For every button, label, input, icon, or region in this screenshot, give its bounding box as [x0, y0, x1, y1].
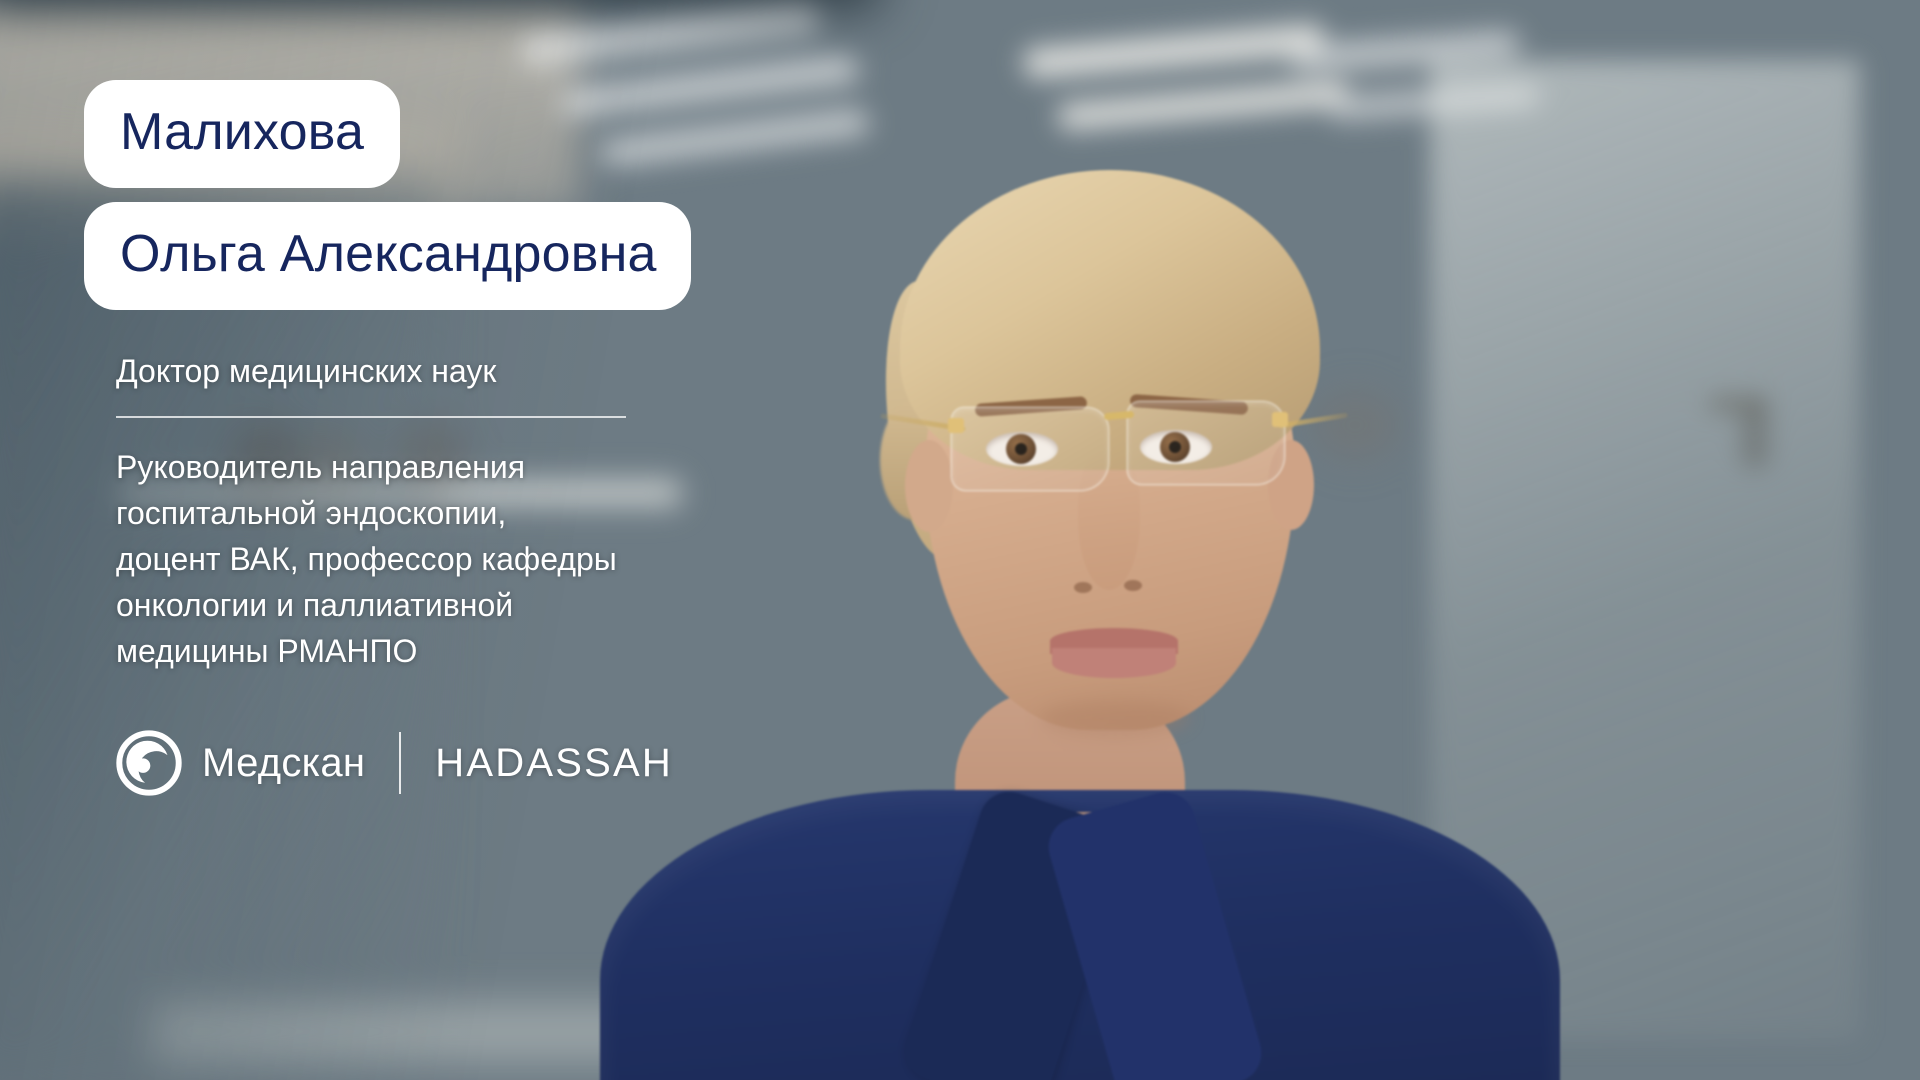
academic-degree-label: Доктор медицинских наук — [116, 352, 784, 390]
speaker-identification-overlay: Малихова Ольга Александровна Доктор меди… — [84, 80, 784, 796]
eyeglass-hinge-right — [1272, 412, 1288, 427]
nostril-right — [1124, 580, 1142, 591]
divider-rule — [116, 416, 626, 418]
given-name-badge-row: Ольга Александровна — [84, 188, 784, 310]
eyeglass-lens-left — [952, 408, 1108, 490]
nostril-left — [1074, 582, 1092, 593]
lower-lip — [1052, 648, 1176, 678]
medscan-wordmark: Медскан — [202, 741, 365, 786]
eyeglass-hinge-left — [948, 418, 964, 433]
chin-shadow — [1040, 700, 1190, 736]
logo-separator — [399, 732, 401, 794]
surname-badge-row: Малихова — [84, 80, 784, 188]
hadassah-wordmark: HADASSAH — [435, 741, 673, 786]
given-name-badge: Ольга Александровна — [84, 202, 691, 310]
ear-left — [905, 440, 953, 532]
medscan-logo-icon — [116, 730, 182, 796]
surname-badge: Малихова — [84, 80, 400, 188]
lower-third-slide: Малихова Ольга Александровна Доктор меди… — [0, 0, 1920, 1080]
eyeglass-lens-right — [1128, 402, 1284, 484]
logo-row: Медскан HADASSAH — [116, 730, 784, 796]
position-description: Руководитель направления госпитальной эн… — [116, 444, 736, 674]
